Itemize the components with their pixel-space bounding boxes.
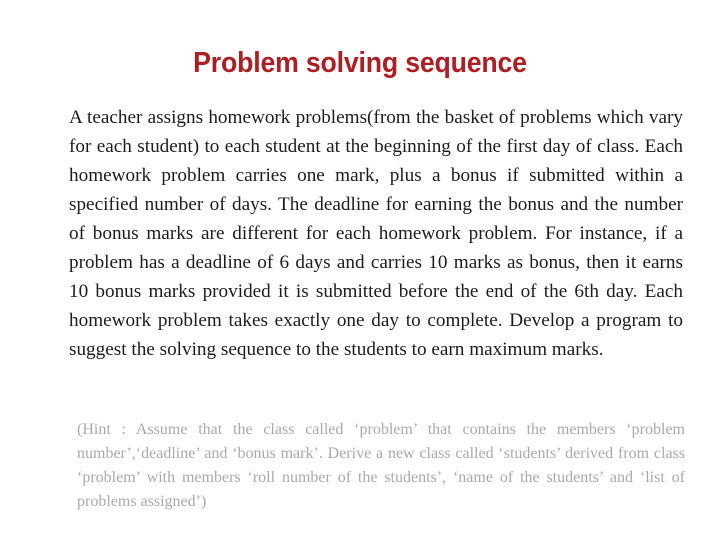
body-text-block: A teacher assigns homework problems(from…: [69, 103, 683, 364]
page-title: Problem solving sequence: [29, 46, 691, 80]
problem-statement-paragraph: A teacher assigns homework problems(from…: [69, 103, 683, 364]
hint-text-block: (Hint : Assume that the class called ‘pr…: [77, 418, 685, 514]
hint-paragraph: (Hint : Assume that the class called ‘pr…: [77, 418, 685, 514]
slide-canvas: Problem solving sequence A teacher assig…: [0, 0, 720, 540]
